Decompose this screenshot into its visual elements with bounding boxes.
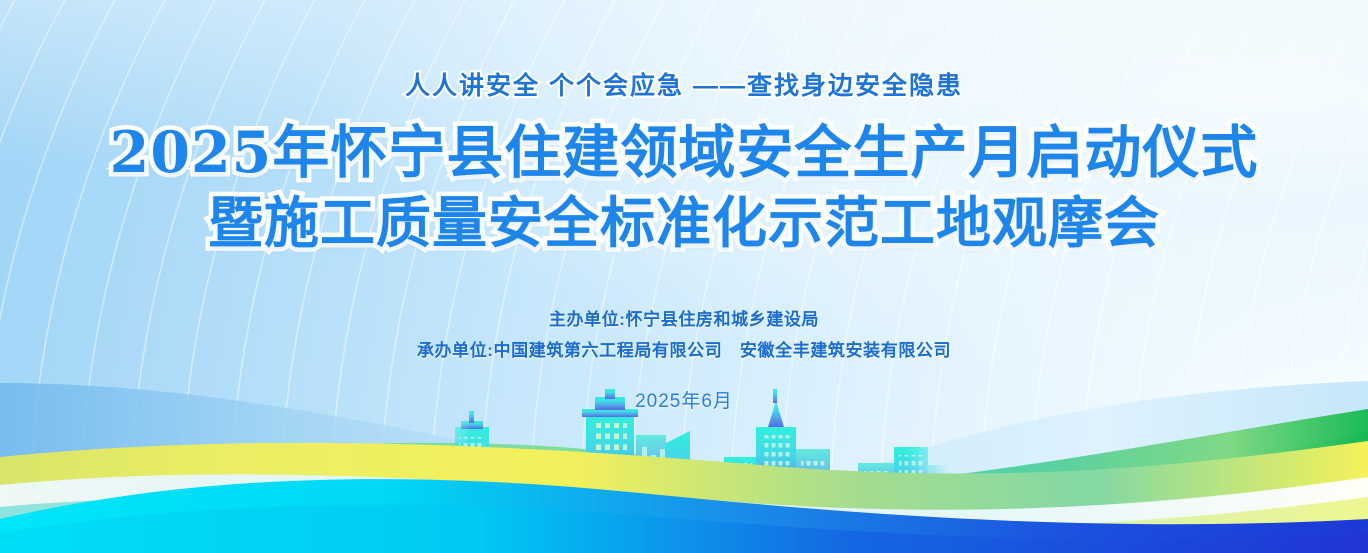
title-line-2: 暨施工质量安全标准化示范工地观摩会 (0, 188, 1368, 258)
organizer-block: 主办单位:怀宁县住房和城乡建设局 承办单位:中国建筑第六工程局有限公司 安徽全丰… (0, 304, 1368, 366)
campaign-slogan: 人人讲安全 个个会应急 ——查找身边安全隐患 (0, 66, 1368, 102)
co-organizer-line: 承办单位:中国建筑第六工程局有限公司 安徽全丰建筑安装有限公司 (0, 335, 1368, 366)
banner-text-content: 人人讲安全 个个会应急 ——查找身边安全隐患 2025年怀宁县住建领域安全生产月… (0, 0, 1368, 413)
title-line-1: 2025年怀宁县住建领域安全生产月启动仪式 (0, 118, 1368, 188)
organizer-line: 主办单位:怀宁县住房和城乡建设局 (0, 304, 1368, 335)
event-date: 2025年6月 (0, 386, 1368, 413)
main-title: 2025年怀宁县住建领域安全生产月启动仪式 暨施工质量安全标准化示范工地观摩会 (0, 118, 1368, 258)
event-banner: 人人讲安全 个个会应急 ——查找身边安全隐患 2025年怀宁县住建领域安全生产月… (0, 0, 1368, 553)
bottom-wave-decoration (0, 423, 1368, 553)
